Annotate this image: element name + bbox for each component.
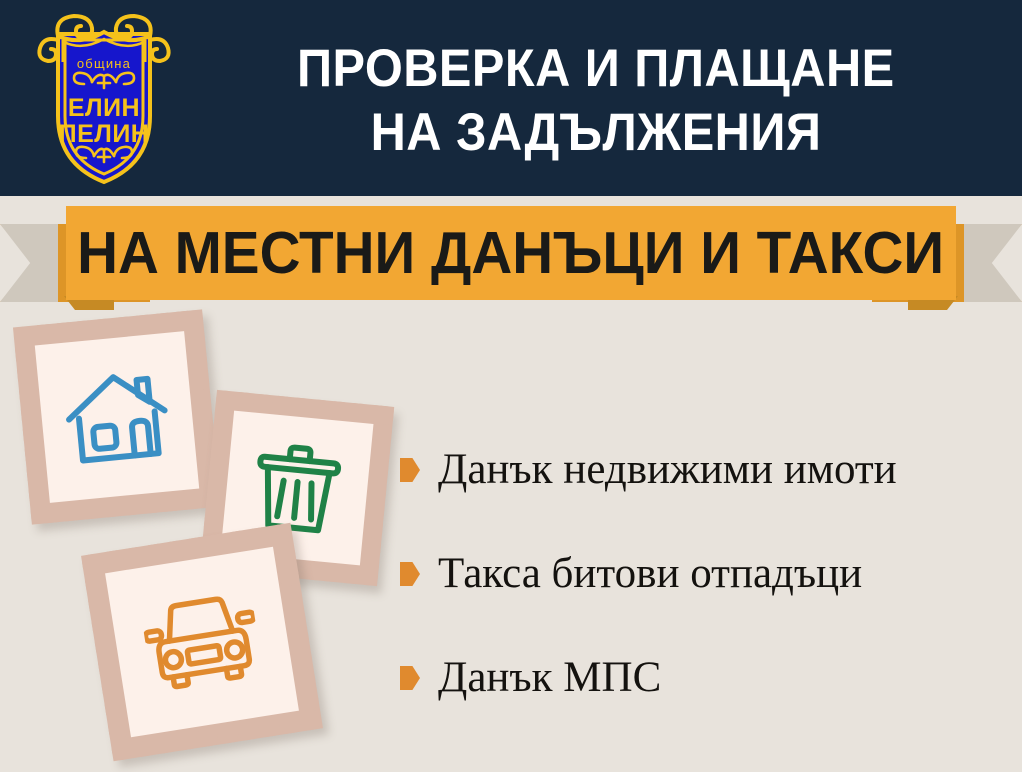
trash-bin-icon bbox=[248, 436, 347, 540]
subtitle-ribbon: НА МЕСТНИ ДАНЪЦИ И ТАКСИ bbox=[0, 196, 1022, 316]
ribbon-banner: НА МЕСТНИ ДАНЪЦИ И ТАКСИ bbox=[66, 206, 956, 300]
ribbon-label: НА МЕСТНИ ДАНЪЦИ И ТАКСИ bbox=[78, 222, 945, 284]
svg-text:ПЕЛИН: ПЕЛИН bbox=[59, 120, 150, 148]
ribbon-fold-left bbox=[0, 224, 58, 302]
arrow-bullet-icon bbox=[400, 666, 420, 690]
stamp-card-house bbox=[13, 309, 221, 524]
arrow-bullet-icon bbox=[400, 562, 420, 586]
stamp-paper-car bbox=[105, 547, 299, 738]
house-icon bbox=[61, 364, 174, 470]
arrow-bullet-icon bbox=[400, 458, 420, 482]
car-front-icon bbox=[139, 588, 264, 696]
list-item-label: Данък МПС bbox=[438, 655, 661, 701]
list-item[interactable]: Данък недвижими имоти bbox=[400, 418, 1010, 522]
poster-header: община ЕЛИН ПЕЛИН bbox=[0, 0, 1022, 196]
list-item[interactable]: Такса битови отпадъци bbox=[400, 522, 1010, 626]
page-title-line-2: НА ЗАДЪЛЖЕНИЯ bbox=[371, 101, 822, 165]
svg-text:ЕЛИН: ЕЛИН bbox=[68, 94, 140, 122]
tax-type-list: Данък недвижими имоти Такса битови отпад… bbox=[400, 418, 1010, 730]
poster-root: община ЕЛИН ПЕЛИН bbox=[0, 0, 1022, 772]
page-title-line-1: ПРОВЕРКА И ПЛАЩАНЕ bbox=[297, 37, 895, 101]
ribbon-fold-right bbox=[964, 224, 1022, 302]
svg-text:община: община bbox=[77, 56, 131, 71]
stamp-card-car bbox=[81, 523, 323, 762]
stamp-paper-house bbox=[35, 331, 199, 503]
page-title: ПРОВЕРКА И ПЛАЩАНЕ НА ЗАДЪЛЖЕНИЯ bbox=[186, 22, 1006, 180]
list-item[interactable]: Данък МПС bbox=[400, 626, 1010, 730]
municipality-emblem-icon: община ЕЛИН ПЕЛИН bbox=[30, 6, 178, 186]
list-item-label: Данък недвижими имоти bbox=[438, 447, 897, 493]
list-item-label: Такса битови отпадъци bbox=[438, 551, 862, 597]
